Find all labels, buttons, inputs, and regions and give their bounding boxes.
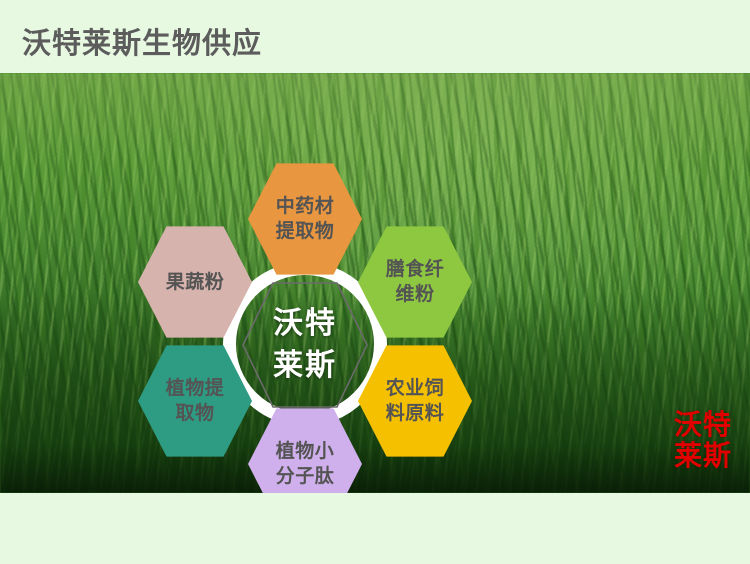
- footer-band: [0, 493, 750, 564]
- hex-label-line1: 植物小: [268, 439, 342, 464]
- center-label-line1: 沃特: [273, 303, 337, 345]
- hex-shape: 农业饲 料原料: [358, 343, 472, 459]
- hex-center-brand[interactable]: 沃特 莱斯: [241, 280, 369, 410]
- hex-petal-label: 植物小 分子肽: [268, 439, 342, 489]
- center-label-line2: 莱斯: [273, 345, 337, 387]
- hex-petal-tcm-extract[interactable]: 中药材 提取物: [248, 161, 362, 277]
- header-band: 沃特莱斯生物供应: [0, 0, 750, 73]
- hex-label-line1: 中药材: [268, 194, 342, 219]
- hex-petal-label: 中药材 提取物: [268, 194, 342, 244]
- hex-label-line2: 维粉: [378, 282, 452, 307]
- hex-label-line1: 植物提: [158, 376, 232, 401]
- hex-shape: 植物提 取物: [138, 343, 252, 459]
- hex-petal-fruit-vegetable-powder[interactable]: 果蔬粉: [138, 224, 252, 340]
- hex-shape: 膳食纤 维粉: [358, 224, 472, 340]
- page-title: 沃特莱斯生物供应: [22, 25, 262, 61]
- watermark-line1: 沃特: [674, 409, 732, 440]
- hex-label-line2: 提取物: [268, 219, 342, 244]
- hex-label-line1: 果蔬粉: [158, 270, 232, 295]
- hex-petal-agricultural-feed-material[interactable]: 农业饲 料原料: [358, 343, 472, 459]
- hex-label-line2: 分子肽: [268, 464, 342, 489]
- hex-petal-dietary-fiber-powder[interactable]: 膳食纤 维粉: [358, 224, 472, 340]
- brand-watermark: 沃特 莱斯: [674, 409, 732, 471]
- hex-petal-plant-extract[interactable]: 植物提 取物: [138, 343, 252, 459]
- hex-label-line1: 膳食纤: [378, 257, 452, 282]
- hex-petal-label: 果蔬粉: [158, 270, 232, 295]
- watermark-line2: 莱斯: [674, 440, 732, 471]
- hex-label-line2: 取物: [158, 401, 232, 426]
- hex-petal-plant-peptide[interactable]: 植物小 分子肽: [248, 406, 362, 493]
- hex-shape: 植物小 分子肽: [248, 406, 362, 493]
- hex-shape: 果蔬粉: [138, 224, 252, 340]
- hex-petal-label: 农业饲 料原料: [378, 376, 452, 426]
- hex-petal-label: 膳食纤 维粉: [378, 257, 452, 307]
- product-hexagon-diagram: 中药材 提取物 膳食纤 维粉 农业饲: [130, 161, 480, 493]
- hex-shape: 中药材 提取物: [248, 161, 362, 277]
- center-brand-label: 沃特 莱斯: [241, 280, 369, 410]
- hex-label-line1: 农业饲: [378, 376, 452, 401]
- page-root: 沃特莱斯生物供应 中药材 提取物 膳食纤: [0, 0, 750, 564]
- hex-label-line2: 料原料: [378, 401, 452, 426]
- hex-petal-label: 植物提 取物: [158, 376, 232, 426]
- hero-banner: 中药材 提取物 膳食纤 维粉 农业饲: [0, 73, 750, 493]
